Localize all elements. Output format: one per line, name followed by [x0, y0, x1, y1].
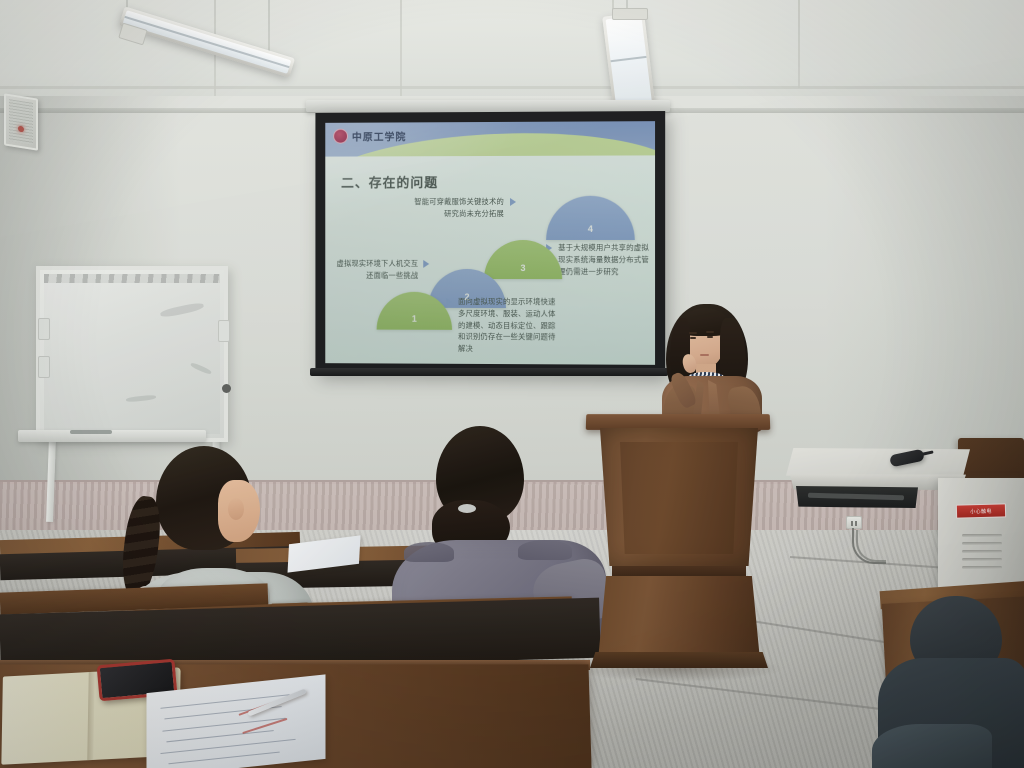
university-crest-icon: [333, 129, 348, 144]
projection-screen-weight-bar: [310, 368, 668, 376]
person3-shoulder: [872, 724, 992, 768]
whiteboard-clamp[interactable]: [38, 318, 50, 340]
speaker-grill: [9, 99, 33, 145]
whiteboard-clamp[interactable]: [218, 320, 230, 342]
whiteboard-top-smudge: [44, 274, 220, 283]
projection-screen-surface: 中原工学院 二、存在的问题 智能可穿戴服饰关键技术的研究尚未充分拓展 4 基于大…: [325, 121, 655, 365]
slide-semicircle-3: 3: [484, 240, 562, 279]
electrical-warning-label: 小心触电: [956, 503, 1006, 518]
wall-shading-right: [824, 96, 1024, 496]
slide-bullet-marker-1: [423, 260, 429, 268]
whiteboard-surface[interactable]: [44, 274, 220, 434]
lamp-tube: [606, 15, 653, 111]
lamp-bracket: [612, 8, 648, 20]
podium-neck: [612, 566, 746, 576]
slide-bullet-text-1: 虚拟现实环境下人机交互还面临一些挑战: [335, 258, 418, 282]
wall-speaker: [4, 93, 38, 150]
whiteboard[interactable]: [36, 266, 228, 442]
paper-writing-line: [166, 730, 273, 743]
slide-semicircle-4: 4: [546, 196, 635, 240]
notebook-spine: [87, 672, 95, 761]
photo-canvas: 中原工学院 二、存在的问题 智能可穿戴服饰关键技术的研究尚未充分拓展 4 基于大…: [0, 0, 1024, 768]
whiteboard-clamp[interactable]: [38, 356, 50, 378]
projection-screen-housing: [306, 100, 670, 112]
speaker-power-led: [18, 126, 24, 133]
whiteboard-tilt-knob[interactable]: [222, 384, 231, 393]
cabinet-vent-slot: [962, 566, 1002, 569]
podium-panel-inset: [620, 442, 738, 554]
student1-ear: [228, 498, 244, 520]
slide-logo: 中原工学院: [333, 128, 406, 143]
equipment-cabinet[interactable]: [938, 478, 1024, 590]
student2-hair-tie: [458, 504, 476, 513]
slide-bullet-text-4: 基于大规模用户共享的虚拟现实系统海量数据分布式管理仍需进一步研究: [558, 242, 655, 278]
projection-screen: 中原工学院 二、存在的问题 智能可穿戴服饰关键技术的研究尚未充分拓展 4 基于大…: [315, 111, 665, 375]
slide-bullet-marker-3: [510, 198, 516, 206]
paper-writing-line: [168, 752, 279, 765]
student2-shoulder-left: [404, 542, 454, 562]
slide-title: 二、存在的问题: [341, 172, 438, 191]
ceiling-seam: [798, 0, 800, 88]
av-console-top[interactable]: [786, 448, 970, 478]
cabinet-vent-slot: [962, 534, 1002, 537]
podium-base: [598, 576, 760, 660]
cabinet-vent-slot: [962, 558, 1002, 561]
presentation-slide: 中原工学院 二、存在的问题 智能可穿戴服饰关键技术的研究尚未充分拓展 4 基于大…: [325, 121, 655, 365]
presenter: [648, 300, 778, 428]
ceiling-wall-joint: [0, 86, 1024, 89]
presenter-brow-right: [706, 331, 714, 333]
cabinet-vent-slot: [962, 542, 1002, 545]
slide-header-wave: [325, 142, 655, 157]
slide-logo-text: 中原工学院: [352, 128, 406, 143]
podium-top-surface: [586, 414, 771, 430]
presenter-brow-left: [689, 332, 697, 334]
slide-bullet-text-3: 智能可穿戴服饰关键技术的研究尚未充分拓展: [408, 196, 504, 220]
cabinet-vent-slot: [962, 550, 1002, 553]
student2-shoulder-right: [518, 540, 572, 560]
person-dark-coat: [872, 596, 1024, 768]
slide-bullet-text-2: 面向虚拟现实的显示环境快速多尺度环境、服装、运动人体的建模、动态目标定位、跟踪和…: [458, 296, 558, 355]
podium-foot: [590, 652, 768, 668]
whiteboard-marker[interactable]: [70, 430, 112, 434]
